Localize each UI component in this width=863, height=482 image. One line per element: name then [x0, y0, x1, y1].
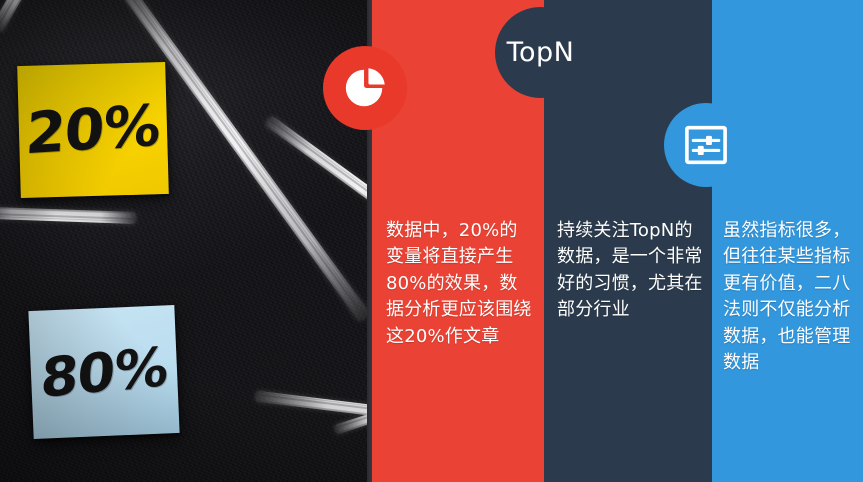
column-red-body: 数据中，20%的变量将直接产生80%的效果，数据分析更应该围绕这20%作文章: [386, 218, 534, 350]
badge-blue[interactable]: [664, 103, 748, 187]
sliders-icon: [684, 125, 728, 165]
pie-chart-icon: [342, 65, 388, 111]
slide-canvas: 20% 80% TopN 数据中，20%的变量将直接产生80%的效果，数据分析更…: [0, 0, 863, 482]
column-blue-body: 虽然指标很多，但往往某些指标更有价值，二八法则不仅能分析数据，也能管理数据: [723, 218, 857, 377]
badge-topn-label: TopN: [507, 37, 575, 68]
badge-topn[interactable]: TopN: [495, 7, 586, 98]
column-navy-body: 持续关注TopN的数据，是一个非常好的习惯，尤其在部分行业: [557, 218, 703, 324]
badge-red[interactable]: [323, 46, 407, 130]
